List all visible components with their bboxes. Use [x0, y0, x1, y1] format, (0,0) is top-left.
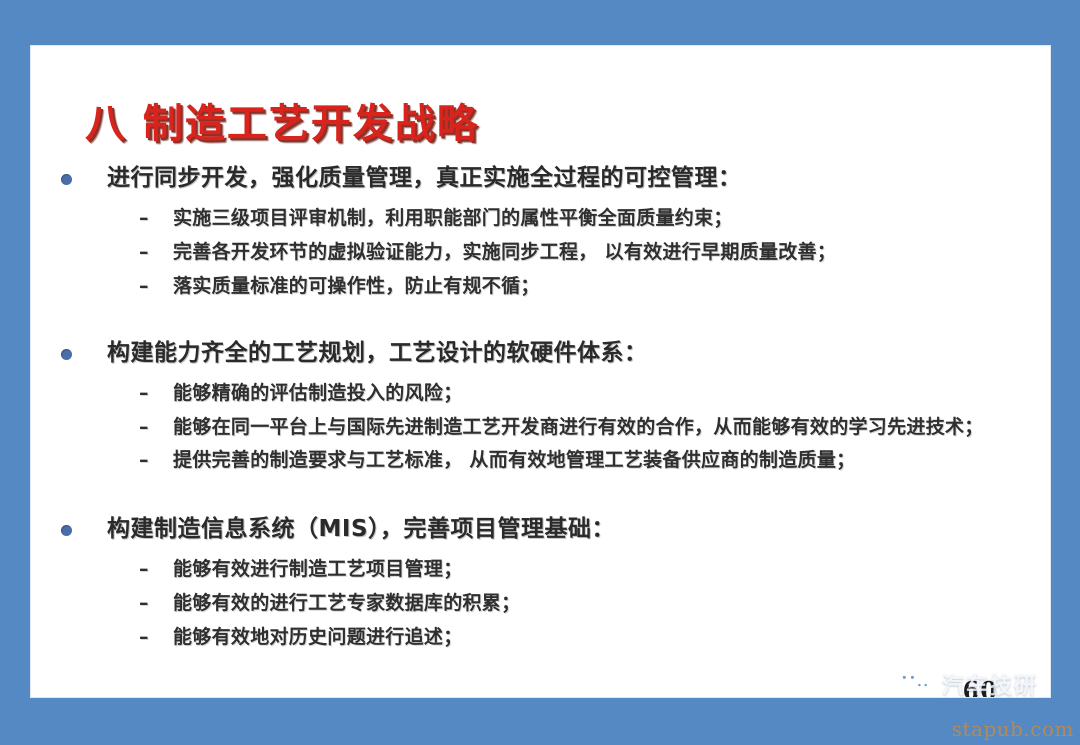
section-heading: 进行同步开发，强化质量管理，真正实施全过程的可控管理：	[107, 164, 1050, 193]
sub-item: – 能够有效地对历史问题进行追述；	[61, 623, 1050, 652]
bullet-dot-icon	[61, 525, 72, 536]
sub-item-text: 实施三级项目评审机制，利用职能部门的属性平衡全面质量约束；	[173, 207, 733, 229]
sub-item-text: 完善各开发环节的虚拟验证能力，实施同步工程， 以有效进行早期质量改善；	[173, 241, 836, 263]
bullet-section: 构建能力齐全的工艺规划，工艺设计的软硬件体系： – 能够精确的评估制造投入的风险…	[31, 339, 1050, 476]
sub-item-text: 能够有效地对历史问题进行追述；	[173, 626, 463, 648]
sub-item: – 能够有效的进行工艺专家数据库的积累；	[61, 589, 1050, 618]
dash-marker-icon: –	[139, 204, 155, 233]
sub-item: – 实施三级项目评审机制，利用职能部门的属性平衡全面质量约束；	[61, 204, 1050, 233]
dash-marker-icon: –	[139, 446, 155, 475]
sub-item: – 完善各开发环节的虚拟验证能力，实施同步工程， 以有效进行早期质量改善；	[61, 238, 1050, 267]
sub-item-text: 能够精确的评估制造投入的风险；	[173, 382, 463, 404]
sub-item: – 提供完善的制造要求与工艺标准， 从而有效地管理工艺装备供应商的制造质量；	[61, 446, 1050, 475]
sub-item-list: – 实施三级项目评审机制，利用职能部门的属性平衡全面质量约束； – 完善各开发环…	[61, 204, 1050, 301]
bullet-heading-row: 构建能力齐全的工艺规划，工艺设计的软硬件体系：	[61, 339, 1050, 373]
section-heading: 构建制造信息系统（MIS），完善项目管理基础：	[107, 515, 1050, 544]
dash-marker-icon: –	[139, 589, 155, 618]
sub-item: – 能够精确的评估制造投入的风险；	[61, 379, 1050, 408]
sub-item-text: 能够在同一平台上与国际先进制造工艺开发商进行有效的合作，从而能够有效的学习先进技…	[173, 416, 984, 438]
sub-item: – 落实质量标准的可操作性，防止有规不循；	[61, 272, 1050, 301]
bullet-heading-row: 构建制造信息系统（MIS），完善项目管理基础：	[61, 515, 1050, 549]
sub-item-text: 落实质量标准的可操作性，防止有规不循；	[173, 275, 540, 297]
sub-item-text: 提供完善的制造要求与工艺标准， 从而有效地管理工艺装备供应商的制造质量；	[173, 449, 855, 471]
sub-item-text: 能够有效进行制造工艺项目管理；	[173, 558, 463, 580]
section-heading: 构建能力齐全的工艺规划，工艺设计的软硬件体系：	[107, 339, 1050, 368]
bullet-dot-icon	[61, 174, 72, 185]
sub-item: – 能够有效进行制造工艺项目管理；	[61, 555, 1050, 584]
dash-marker-icon: –	[139, 379, 155, 408]
dash-marker-icon: –	[139, 272, 155, 301]
slide-body: 进行同步开发，强化质量管理，真正实施全过程的可控管理： – 实施三级项目评审机制…	[31, 164, 1050, 652]
sub-item: – 能够在同一平台上与国际先进制造工艺开发商进行有效的合作，从而能够有效的学习先…	[61, 413, 1050, 442]
bullet-dot-icon	[61, 349, 72, 360]
bullet-section: 构建制造信息系统（MIS），完善项目管理基础： – 能够有效进行制造工艺项目管理…	[31, 515, 1050, 652]
dash-marker-icon: –	[139, 555, 155, 584]
bullet-heading-row: 进行同步开发，强化质量管理，真正实施全过程的可控管理：	[61, 164, 1050, 198]
dash-marker-icon: –	[139, 413, 155, 442]
dash-marker-icon: –	[139, 238, 155, 267]
sub-item-list: – 能够精确的评估制造投入的风险； – 能够在同一平台上与国际先进制造工艺开发商…	[61, 379, 1050, 476]
watermark-site-text: stapub.com	[952, 717, 1074, 741]
sub-item-text: 能够有效的进行工艺专家数据库的积累；	[173, 592, 520, 614]
page-number: 60	[963, 676, 998, 697]
slide-title: 八 制造工艺开发战略	[85, 104, 479, 144]
bullet-section: 进行同步开发，强化质量管理，真正实施全过程的可控管理： – 实施三级项目评审机制…	[31, 164, 1050, 301]
sub-item-list: – 能够有效进行制造工艺项目管理； – 能够有效的进行工艺专家数据库的积累； –…	[61, 555, 1050, 652]
dash-marker-icon: –	[139, 623, 155, 652]
slide-canvas: 八 制造工艺开发战略 进行同步开发，强化质量管理，真正实施全过程的可控管理： –…	[31, 46, 1050, 697]
